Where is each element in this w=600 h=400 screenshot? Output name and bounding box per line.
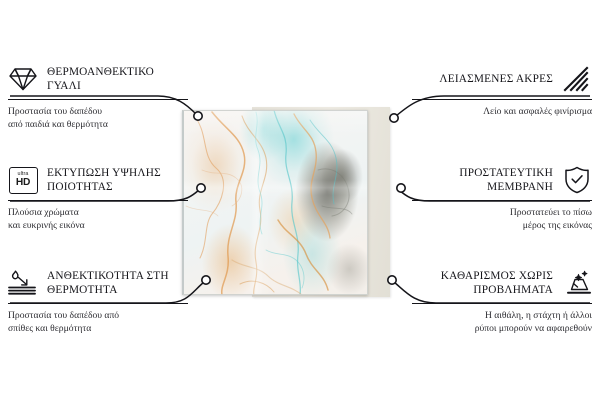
feature-divider (412, 303, 592, 304)
feature-divider (8, 200, 188, 201)
feature-description: Πλούσια χρώματα και ευκρινής εικόνα (8, 206, 188, 232)
shield-check-icon (562, 165, 592, 195)
feature-divider (412, 99, 592, 100)
heat-resistance-icon (8, 268, 38, 298)
diamond-icon (8, 64, 38, 94)
ultra-hd-icon: ultra HD (8, 165, 38, 195)
feature-high-quality-print: ultra HD ΕΚΤΥΠΩΣΗ ΥΨΗΛΗΣ ΠΟΙΟΤΗΤΑΣ Πλούσ… (8, 163, 188, 232)
ink-vein-detail (182, 110, 368, 295)
ultra-hd-icon-large-label: HD (16, 178, 30, 188)
feature-title: ΚΑΘΑΡΙΣΜΟΣ ΧΩΡΙΣ ΠΡΟΒΛΗΜΑΤΑ (412, 269, 553, 297)
glass-panel (182, 110, 368, 295)
feature-thermal-glass: ΘΕΡΜΟΑΝΘΕΚΤΙΚΟ ΓΥΑΛΙ Προστασία του δαπέδ… (8, 62, 188, 131)
product-feature-infographic: ΘΕΡΜΟΑΝΘΕΚΤΙΚΟ ΓΥΑΛΙ Προστασία του δαπέδ… (0, 0, 600, 400)
feature-protective-membrane: ΠΡΟΣΤΑΤΕΥΤΙΚΗ ΜΕΜΒΡΑΝΗ Προστατεύει το πί… (412, 163, 592, 232)
feature-title: ΠΡΟΣΤΑΤΕΥΤΙΚΗ ΜΕΜΒΡΑΝΗ (412, 166, 553, 194)
sparkle-clean-icon (562, 268, 592, 298)
feature-divider (412, 200, 592, 201)
feature-title: ΑΝΘΕΚΤΙΚΟΤΗΤΑ ΣΤΗ ΘΕΡΜΟΤΗΤΑ (47, 269, 188, 297)
feature-description: Η αιθάλη, η στάχτη ή άλλοι ρύποι μπορούν… (412, 309, 592, 335)
feature-polished-edges: ΛΕΙΑΣΜΕΝΕΣ ΑΚΡΕΣ Λείο και ασφαλές φινίρι… (412, 62, 592, 118)
feature-title: ΕΚΤΥΠΩΣΗ ΥΨΗΛΗΣ ΠΟΙΟΤΗΤΑΣ (47, 166, 188, 194)
feature-header: ΠΡΟΣΤΑΤΕΥΤΙΚΗ ΜΕΜΒΡΑΝΗ (412, 163, 592, 197)
feature-header: ΚΑΘΑΡΙΣΜΟΣ ΧΩΡΙΣ ΠΡΟΒΛΗΜΑΤΑ (412, 266, 592, 300)
product-image (182, 110, 390, 295)
feature-header: ΘΕΡΜΟΑΝΘΕΚΤΙΚΟ ΓΥΑΛΙ (8, 62, 188, 96)
feature-easy-cleaning: ΚΑΘΑΡΙΣΜΟΣ ΧΩΡΙΣ ΠΡΟΒΛΗΜΑΤΑ Η αιθάλη, η … (412, 266, 592, 335)
feature-description: Προστατεύει το πίσω μέρος της εικόνας (412, 206, 592, 232)
feature-header: ΑΝΘΕΚΤΙΚΟΤΗΤΑ ΣΤΗ ΘΕΡΜΟΤΗΤΑ (8, 266, 188, 300)
feature-header: ultra HD ΕΚΤΥΠΩΣΗ ΥΨΗΛΗΣ ΠΟΙΟΤΗΤΑΣ (8, 163, 188, 197)
feature-description: Λείο και ασφαλές φινίρισμα (412, 105, 592, 118)
feature-description: Προστασία του δαπέδου από σπίθες και θερ… (8, 309, 188, 335)
feature-header: ΛΕΙΑΣΜΕΝΕΣ ΑΚΡΕΣ (412, 62, 592, 96)
feature-divider (8, 99, 188, 100)
feature-divider (8, 303, 188, 304)
feature-title: ΛΕΙΑΣΜΕΝΕΣ ΑΚΡΕΣ (412, 72, 553, 86)
polished-edges-icon (562, 64, 592, 94)
feature-description: Προστασία του δαπέδου από παιδιά και θερ… (8, 105, 188, 131)
feature-heat-resistance: ΑΝΘΕΚΤΙΚΟΤΗΤΑ ΣΤΗ ΘΕΡΜΟΤΗΤΑ Προστασία το… (8, 266, 188, 335)
feature-title: ΘΕΡΜΟΑΝΘΕΚΤΙΚΟ ΓΥΑΛΙ (47, 65, 188, 93)
